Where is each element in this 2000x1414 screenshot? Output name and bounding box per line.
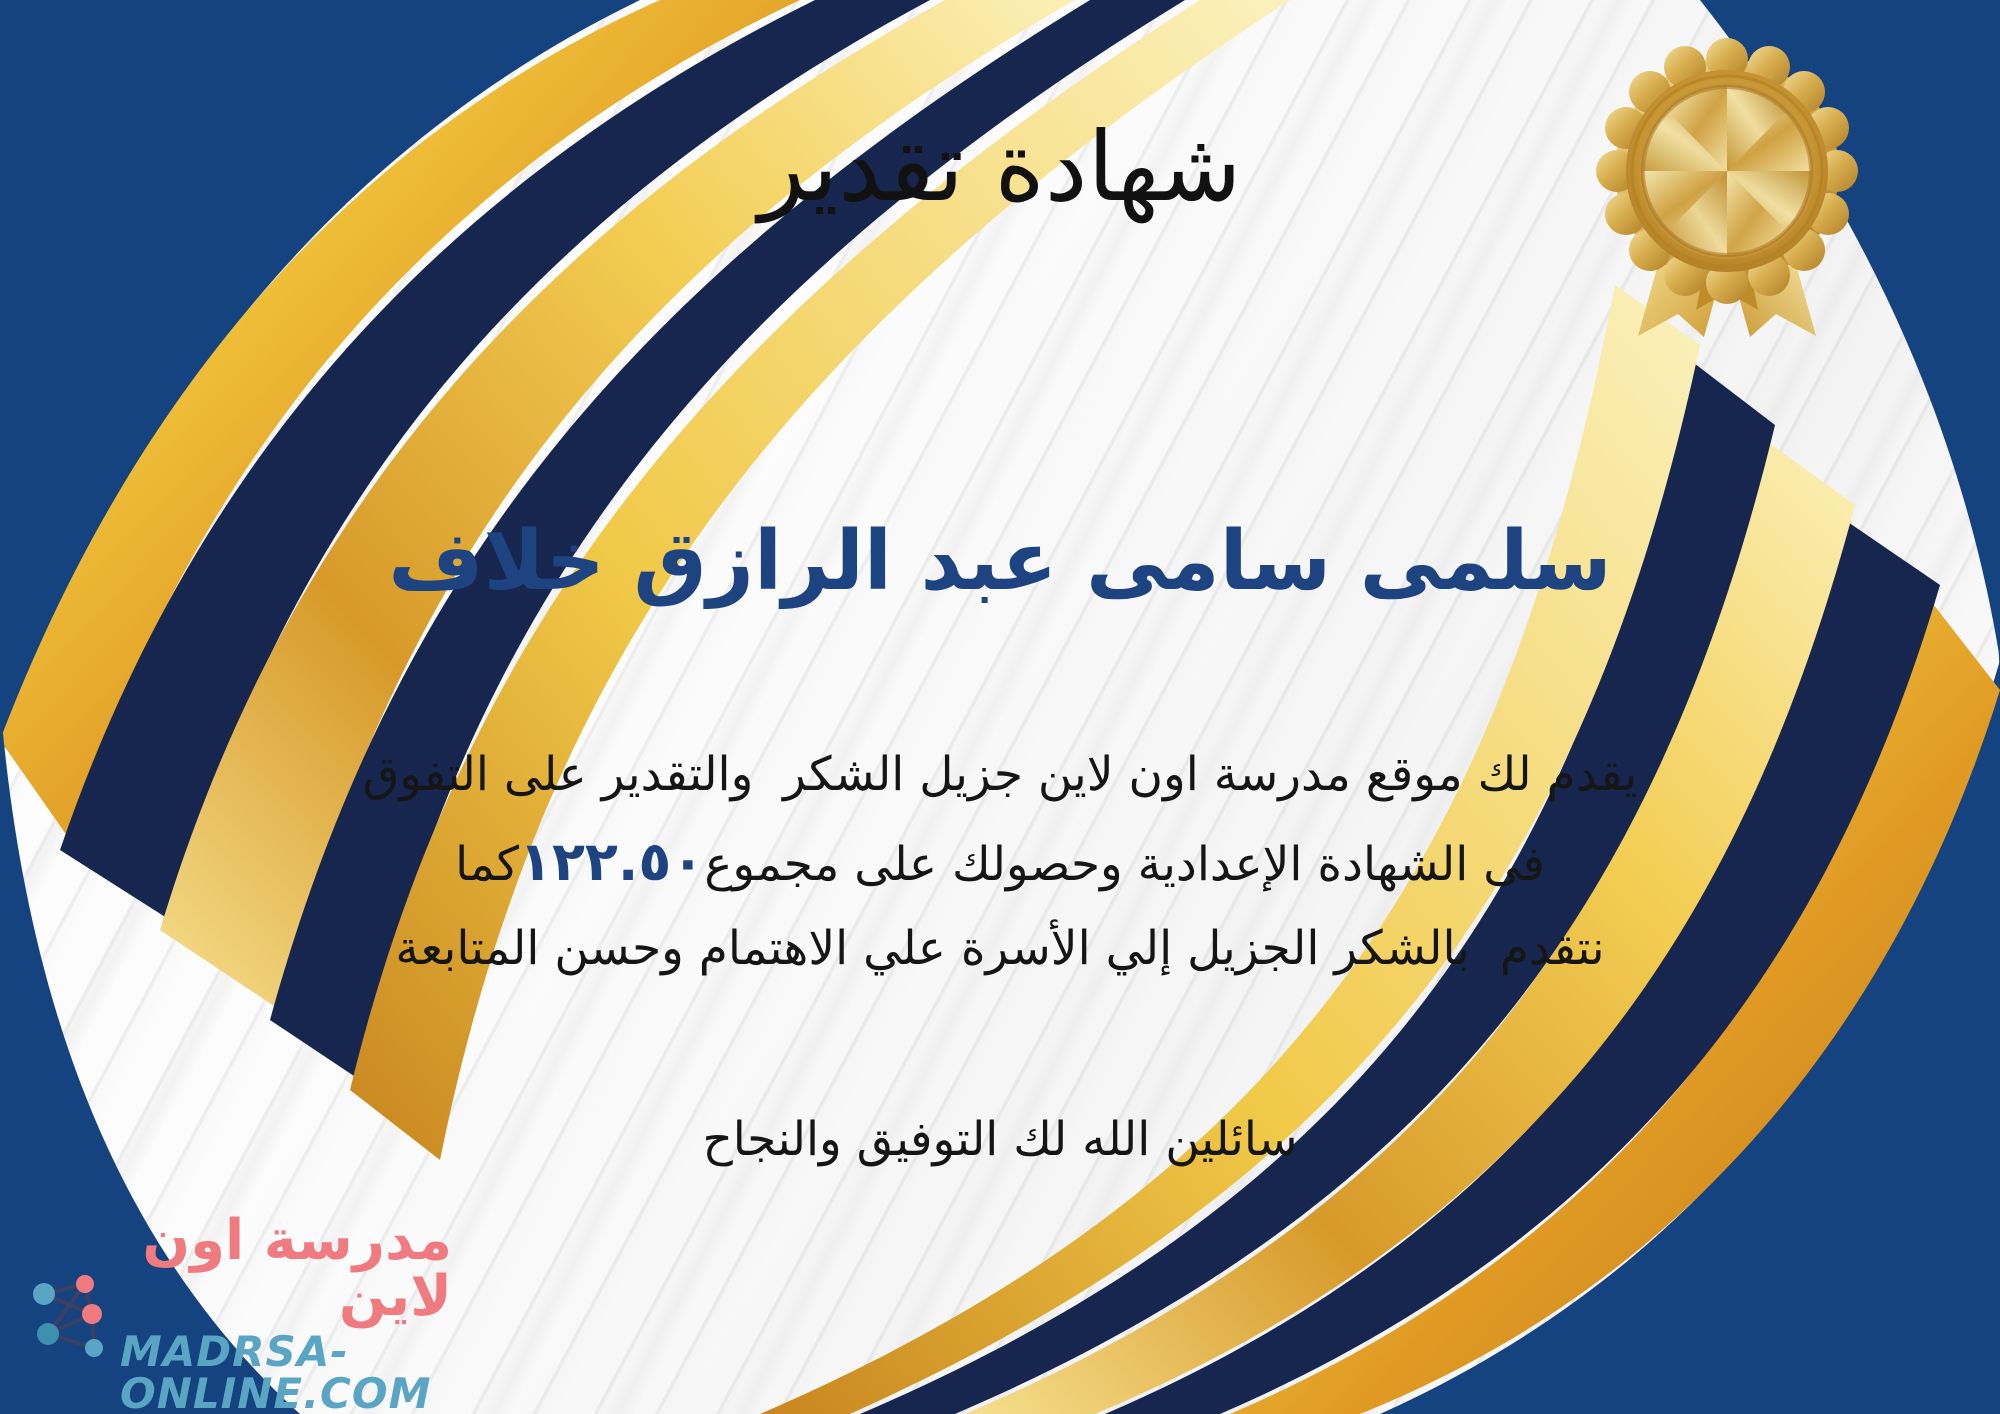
certificate-title: شهادة تقدير <box>0 115 2000 221</box>
logo-text: مدرسة اون لاين MADRSA-ONLINE.COM <box>120 1213 452 1414</box>
body-line-2-suffix: كما <box>455 837 519 892</box>
body-line-3: نتقدم بالشكر الجزيل إلي الأسرة علي الاهت… <box>60 909 1940 990</box>
body-line-1: يقدم لك موقع مدرسة اون لاين جزيل الشكر و… <box>60 735 1940 816</box>
body-line-2-text: فى الشهادة الإعدادية وحصولك على مجموع <box>704 837 1545 892</box>
body-line-2: فى الشهادة الإعدادية وحصولك على مجموع١٢٢… <box>60 816 1940 909</box>
network-nodes-icon <box>22 1268 110 1360</box>
site-logo[interactable]: مدرسة اون لاين MADRSA-ONLINE.COM <box>22 1251 452 1376</box>
closing-line: سائلين الله لك التوفيق والنجاح <box>0 1105 2000 1176</box>
recipient-name: سلمى سامى عبد الرازق خلاف <box>0 515 2000 609</box>
grade-total: ١٢٢.٥٠ <box>519 830 704 893</box>
logo-website: MADRSA-ONLINE.COM <box>120 1331 452 1414</box>
certificate-body: يقدم لك موقع مدرسة اون لاين جزيل الشكر و… <box>60 735 1940 990</box>
certificate-canvas: شهادة تقدير سلمى سامى عبد الرازق خلاف يق… <box>0 0 2000 1414</box>
logo-arabic-name: مدرسة اون لاين <box>120 1213 452 1325</box>
